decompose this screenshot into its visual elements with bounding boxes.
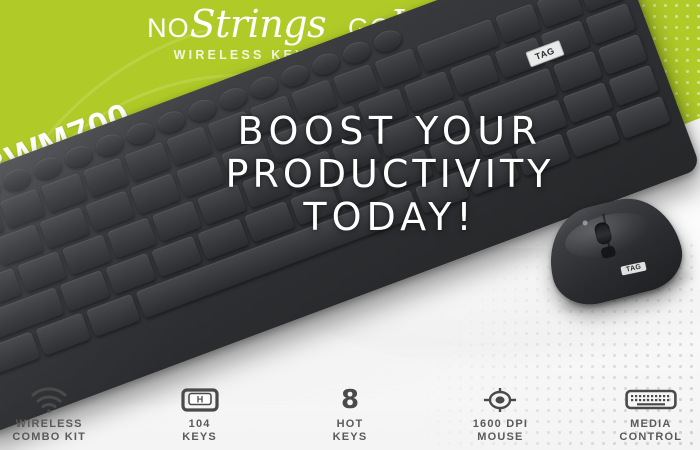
hero-line-1: BOOST YOUR [175, 112, 605, 151]
key [0, 165, 33, 194]
key [278, 61, 311, 90]
feature-media-control: MEDIA CONTROL [576, 380, 700, 444]
feature-label-line1: MEDIA [630, 418, 671, 430]
key [62, 142, 95, 171]
product-advertisement-banner: TAG TAG BWM700 NOStringsGOWireless WIREL… [0, 0, 700, 450]
feature-label: HOT KEYS [333, 418, 368, 444]
feature-label-line2: COMBO KIT [12, 431, 86, 443]
key [371, 27, 404, 56]
feature-label-line2: CONTROL [619, 431, 682, 443]
feature-label: WIRELESS COMBO KIT [12, 418, 86, 444]
feature-1600-dpi-mouse: 1600 DPI MOUSE [425, 380, 575, 444]
feature-wireless-combo-kit: WIRELESS COMBO KIT [0, 380, 124, 444]
tagline-no: NO [147, 13, 190, 43]
hero-headline: BOOST YOUR PRODUCTIVITY TODAY! [175, 112, 605, 236]
wifi-icon [29, 385, 69, 415]
hero-line-3: TODAY! [175, 198, 605, 237]
feature-label: 104 KEYS [182, 418, 217, 444]
keyboard-icon [625, 385, 677, 415]
svg-text:H: H [196, 395, 203, 405]
feature-bar: WIRELESS COMBO KIT H 104 KEYS 8 [0, 380, 700, 450]
hot-keys-count: 8 [341, 386, 359, 414]
key [340, 38, 373, 67]
mouse-brand-badge: TAG [620, 261, 647, 275]
feature-label-line1: WIRELESS [16, 418, 83, 430]
number-icon: 8 [341, 385, 359, 415]
feature-label-line1: 104 [189, 418, 211, 430]
feature-label-line1: 1600 DPI [473, 418, 528, 430]
key [247, 73, 280, 102]
mouse-dpi-button [600, 245, 616, 259]
feature-label-line1: HOT [337, 418, 364, 430]
hero-line-2: PRODUCTIVITY [175, 155, 605, 194]
keycap-icon: H [181, 385, 219, 415]
feature-label-line2: KEYS [182, 431, 217, 443]
key [0, 331, 41, 383]
feature-label-line2: MOUSE [477, 431, 523, 443]
key [124, 119, 157, 148]
feature-8-hot-keys: 8 HOT KEYS [275, 380, 425, 444]
key [93, 131, 126, 160]
feature-label-line2: KEYS [333, 431, 368, 443]
key [309, 50, 342, 79]
tagline-strings: Strings [190, 2, 326, 46]
feature-label: MEDIA CONTROL [619, 418, 682, 444]
feature-label: 1600 DPI MOUSE [473, 418, 528, 444]
key [31, 154, 64, 183]
target-icon [479, 385, 521, 415]
feature-104-keys: H 104 KEYS [124, 380, 274, 444]
